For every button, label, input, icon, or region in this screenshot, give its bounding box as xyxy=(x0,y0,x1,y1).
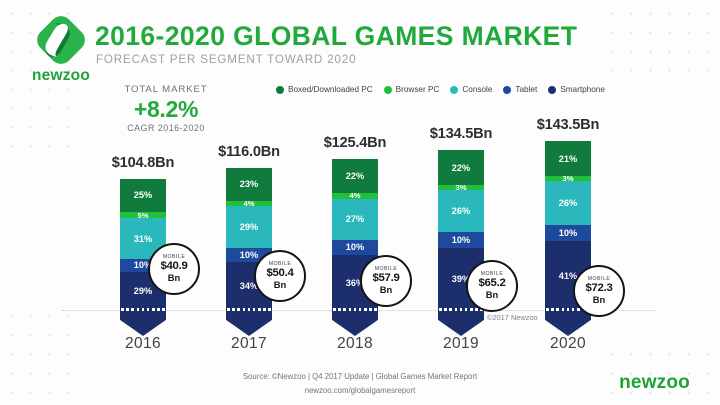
badge-label: MOBILE xyxy=(588,277,611,282)
stacked-bar: 25%5%31%10%29% xyxy=(120,179,166,310)
total-market-block: TOTAL MARKET +8.2% CAGR 2016-2020 xyxy=(104,84,228,133)
bar-segment: 3% xyxy=(545,176,591,181)
bar-segment: 29% xyxy=(120,272,166,310)
stacked-bar: 21%3%26%10%41% xyxy=(545,141,591,310)
badge-value: $65.2 xyxy=(478,278,505,290)
infographic-canvas: newzoo 2016-2020 GLOBAL GAMES MARKET FOR… xyxy=(0,0,720,405)
total-market-note: CAGR 2016-2020 xyxy=(104,123,228,133)
bar-segment: 26% xyxy=(438,190,484,232)
x-axis-year-label: 2019 xyxy=(401,335,521,353)
footer: Source: ©Newzoo | Q4 2017 Update | Globa… xyxy=(0,370,720,397)
x-axis-year-label: 2017 xyxy=(189,335,309,353)
legend-item: Console xyxy=(450,85,492,94)
bar-segment: 10% xyxy=(332,240,378,255)
badge-unit: Bn xyxy=(168,273,181,283)
bar-segment: 29% xyxy=(226,206,272,247)
page-subtitle: FORECAST PER SEGMENT TOWARD 2020 xyxy=(96,53,356,66)
bar-segment: 5% xyxy=(120,212,166,219)
badge-unit: Bn xyxy=(593,295,606,305)
baseline-dash-marker xyxy=(545,308,591,311)
mobile-revenue-badge: MOBILE$57.9Bn xyxy=(360,255,412,307)
legend-color-dot-icon xyxy=(276,86,284,94)
bar-arrow-tip xyxy=(545,310,591,336)
baseline-dash-marker xyxy=(332,308,378,311)
bar-segment: 10% xyxy=(120,259,166,272)
bar-segment: 10% xyxy=(226,248,272,262)
chart-baseline xyxy=(62,310,656,311)
bar-arrow-tip xyxy=(226,310,272,336)
chart-copyright: ©2017 Newzoo xyxy=(487,313,538,322)
legend-item-label: Boxed/Downloaded PC xyxy=(288,85,373,94)
column-total-label: $116.0Bn xyxy=(189,144,309,160)
bar-segment: 4% xyxy=(226,201,272,207)
total-market-label: TOTAL MARKET xyxy=(104,84,228,95)
bar-segment: 4% xyxy=(332,193,378,199)
bar-segment: 27% xyxy=(332,199,378,240)
column-total-label: $104.8Bn xyxy=(83,155,203,171)
bar-segment: 31% xyxy=(120,218,166,259)
brand-logo: newzoo xyxy=(22,12,100,88)
baseline-dash-marker xyxy=(226,308,272,311)
stacked-bar: 22%3%26%10%39% xyxy=(438,150,484,310)
badge-value: $72.3 xyxy=(585,283,612,295)
bar-segment: 3% xyxy=(438,185,484,190)
legend-color-dot-icon xyxy=(503,86,511,94)
badge-unit: Bn xyxy=(380,285,393,295)
badge-label: MOBILE xyxy=(375,267,398,272)
badge-label: MOBILE xyxy=(269,262,292,267)
footer-source: Source: ©Newzoo | Q4 2017 Update | Globa… xyxy=(0,370,720,384)
badge-unit: Bn xyxy=(486,290,499,300)
baseline-dash-marker xyxy=(438,308,484,311)
x-axis-year-label: 2020 xyxy=(508,335,628,353)
badge-value: $57.9 xyxy=(372,273,399,285)
mobile-revenue-badge: MOBILE$72.3Bn xyxy=(573,265,625,317)
newzoo-diamond-logo-icon xyxy=(33,12,89,68)
chart-legend: Boxed/Downloaded PCBrowser PCConsoleTabl… xyxy=(276,85,605,94)
legend-item: Smartphone xyxy=(548,85,605,94)
bar-segment: 10% xyxy=(438,232,484,248)
footer-url[interactable]: newzoo.com/globalgamesreport xyxy=(0,384,720,398)
bar-segment: 21% xyxy=(545,141,591,176)
mobile-revenue-badge: MOBILE$40.9Bn xyxy=(148,243,200,295)
stacked-bar: 23%4%29%10%34% xyxy=(226,168,272,310)
bar-segment: 41% xyxy=(545,241,591,310)
legend-item: Tablet xyxy=(503,85,537,94)
badge-label: MOBILE xyxy=(163,255,186,260)
bar-segment: 36% xyxy=(332,255,378,310)
baseline-dash-marker xyxy=(120,308,166,311)
legend-item-label: Browser PC xyxy=(396,85,440,94)
badge-value: $50.4 xyxy=(266,268,293,280)
bar-arrow-tip xyxy=(332,310,378,336)
bar-segment: 25% xyxy=(120,179,166,212)
mobile-revenue-badge: MOBILE$50.4Bn xyxy=(254,250,306,302)
bar-segment: 22% xyxy=(332,159,378,193)
mobile-revenue-badge: MOBILE$65.2Bn xyxy=(466,260,518,312)
x-axis-year-label: 2016 xyxy=(83,335,203,353)
legend-color-dot-icon xyxy=(548,86,556,94)
legend-color-dot-icon xyxy=(450,86,458,94)
legend-item: Browser PC xyxy=(384,85,440,94)
legend-item: Boxed/Downloaded PC xyxy=(276,85,373,94)
column-total-label: $143.5Bn xyxy=(508,117,628,133)
badge-value: $40.9 xyxy=(160,261,187,273)
dot-grid-decoration-top-right xyxy=(603,4,718,82)
x-axis-year-label: 2018 xyxy=(295,335,415,353)
bar-arrow-tip xyxy=(120,310,166,336)
badge-unit: Bn xyxy=(274,280,287,290)
bar-segment: 10% xyxy=(545,225,591,242)
column-total-label: $125.4Bn xyxy=(295,135,415,151)
bar-segment: 22% xyxy=(438,150,484,185)
column-total-label: $134.5Bn xyxy=(401,126,521,142)
brand-wordmark: newzoo xyxy=(22,67,100,85)
bar-segment: 23% xyxy=(226,168,272,201)
legend-item-label: Smartphone xyxy=(560,85,605,94)
stacked-bar: 22%4%27%10%36% xyxy=(332,159,378,310)
total-market-value: +8.2% xyxy=(104,97,228,122)
page-title: 2016-2020 GLOBAL GAMES MARKET xyxy=(95,21,577,52)
legend-item-label: Tablet xyxy=(515,85,537,94)
footer-brand-wordmark: newzoo xyxy=(619,372,690,394)
legend-item-label: Console xyxy=(462,85,492,94)
bar-segment: 39% xyxy=(438,248,484,310)
legend-color-dot-icon xyxy=(384,86,392,94)
bar-segment: 26% xyxy=(545,181,591,225)
bar-segment: 34% xyxy=(226,262,272,310)
badge-label: MOBILE xyxy=(481,272,504,277)
bar-arrow-tip xyxy=(438,310,484,336)
